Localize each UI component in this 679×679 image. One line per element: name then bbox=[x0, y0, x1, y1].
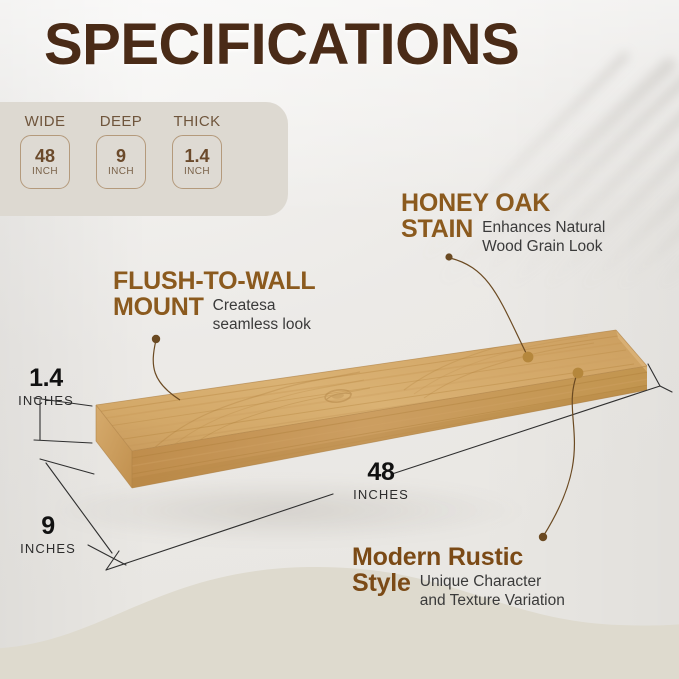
spec-label-wide: WIDE bbox=[25, 113, 66, 130]
dimension-value-thickness: 1.4 bbox=[10, 366, 82, 391]
dimension-label-depth: 9 INCHES bbox=[18, 514, 78, 555]
flush-mount-sub-line2: seamless look bbox=[213, 316, 311, 335]
dimension-unit-thickness: INCHES bbox=[10, 394, 82, 407]
flush-mount-heading-line1: FLUSH-TO-WALL bbox=[113, 268, 315, 294]
honey-oak-heading-line2: STAIN bbox=[401, 216, 473, 242]
honey-oak-heading-line1: HONEY OAK bbox=[401, 190, 605, 216]
spec-unit-deep: INCH bbox=[108, 167, 134, 177]
page-title: SPECIFICATIONS bbox=[44, 16, 519, 74]
flush-mount-sub-line1: Createsa bbox=[213, 294, 311, 316]
spec-value-thick: 1.4 bbox=[184, 147, 209, 165]
specifications-infographic: SPECIFICATIONS WIDE 48 INCH DEEP 9 INCH … bbox=[0, 0, 679, 679]
spec-unit-thick: INCH bbox=[184, 167, 210, 177]
honey-oak-sub-line2: Wood Grain Look bbox=[482, 238, 605, 257]
dimension-unit-depth: INCHES bbox=[18, 542, 78, 555]
honey-oak-sub-line1: Enhances Natural bbox=[482, 216, 605, 238]
modern-rustic-heading-line2: Style bbox=[352, 570, 411, 596]
modern-rustic-sub-line2: and Texture Variation bbox=[420, 592, 565, 611]
dimension-unit-width: INCHES bbox=[348, 488, 414, 501]
spec-box-deep: 9 INCH bbox=[96, 135, 146, 189]
annotation-honey-oak-stain: HONEY OAK STAIN Enhances Natural Wood Gr… bbox=[401, 190, 605, 257]
spec-item-thick: THICK 1.4 INCH bbox=[166, 113, 228, 189]
spec-label-deep: DEEP bbox=[100, 113, 142, 130]
spec-unit-wide: INCH bbox=[32, 167, 58, 177]
spec-value-deep: 9 bbox=[116, 147, 126, 165]
flush-mount-heading-line2: MOUNT bbox=[113, 294, 204, 320]
spec-box-wide: 48 INCH bbox=[20, 135, 70, 189]
spec-box-thick: 1.4 INCH bbox=[172, 135, 222, 189]
spec-summary-card: WIDE 48 INCH DEEP 9 INCH THICK 1.4 INCH bbox=[0, 102, 288, 216]
spec-label-thick: THICK bbox=[174, 113, 221, 130]
spec-item-wide: WIDE 48 INCH bbox=[14, 113, 76, 189]
annotation-flush-to-wall-mount: FLUSH-TO-WALL MOUNT Createsa seamless lo… bbox=[113, 268, 315, 335]
annotation-modern-rustic-style: Modern Rustic Style Unique Character and… bbox=[352, 544, 565, 611]
modern-rustic-sub-line1: Unique Character bbox=[420, 570, 565, 592]
spec-value-wide: 48 bbox=[35, 147, 55, 165]
dimension-label-width: 48 INCHES bbox=[348, 460, 414, 501]
dimension-label-thickness: 1.4 INCHES bbox=[10, 366, 82, 407]
spec-row: WIDE 48 INCH DEEP 9 INCH THICK 1.4 INCH bbox=[14, 113, 228, 189]
modern-rustic-heading-line1: Modern Rustic bbox=[352, 544, 565, 570]
dimension-value-depth: 9 bbox=[18, 514, 78, 539]
spec-item-deep: DEEP 9 INCH bbox=[90, 113, 152, 189]
dimension-value-width: 48 bbox=[348, 460, 414, 485]
